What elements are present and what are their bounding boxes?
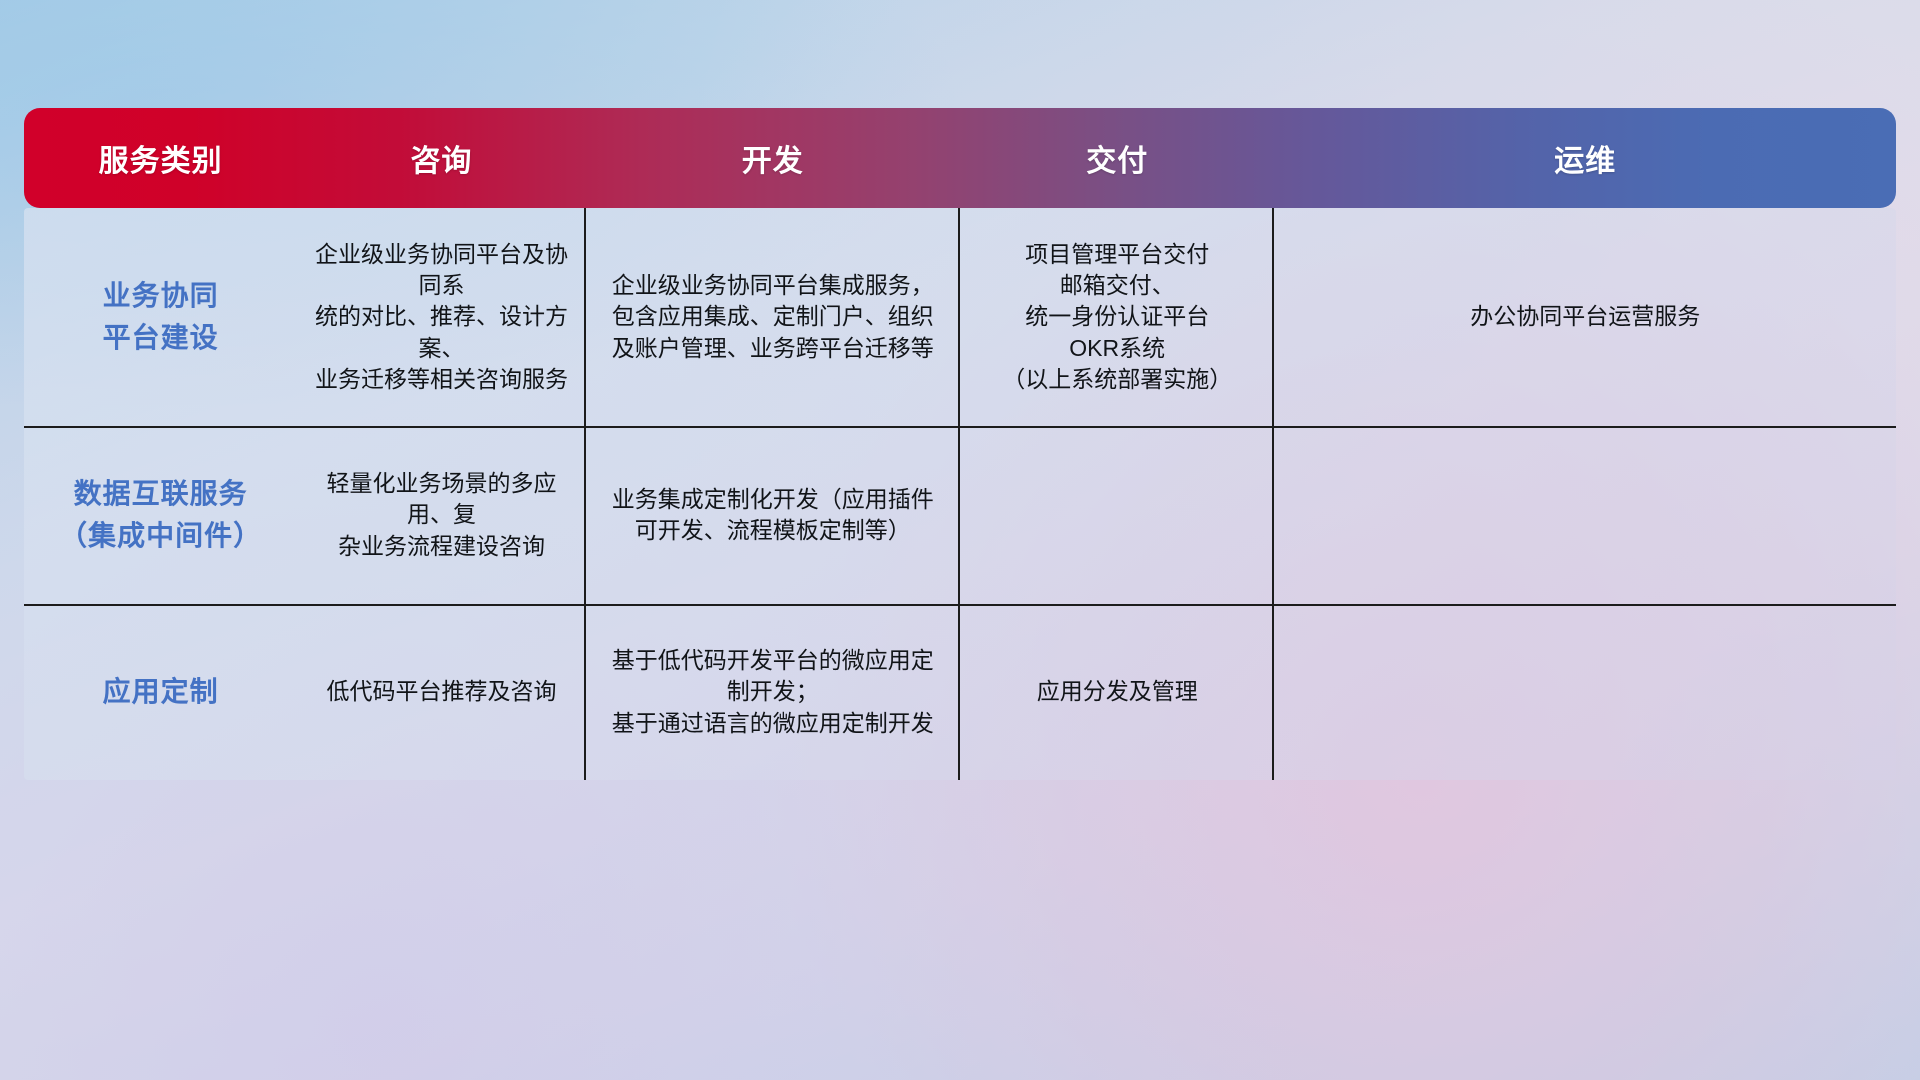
table-header-service-category: 服务类别 (24, 108, 297, 208)
table-header-delivery: 交付 (960, 108, 1274, 208)
header-label: 交付 (1086, 136, 1148, 180)
table-header-operations: 运维 (1274, 108, 1896, 208)
table-row: 应用定制 低代码平台推荐及咨询 基于低代码开发平台的微应用定 制开发； 基于通过… (24, 604, 1896, 780)
cell-consulting: 轻量化业务场景的多应用、复 杂业务流程建设咨询 (297, 426, 585, 604)
cell-development: 企业级业务协同平台集成服务， 包含应用集成、定制门户、组织 及账户管理、业务跨平… (586, 208, 960, 426)
cell-operations (1274, 426, 1896, 604)
header-label: 咨询 (410, 136, 472, 180)
table-header-consulting: 咨询 (297, 108, 585, 208)
table-row: 数据互联服务 （集成中间件） 轻量化业务场景的多应用、复 杂业务流程建设咨询 业… (24, 426, 1896, 604)
cell-delivery: 应用分发及管理 (960, 604, 1274, 780)
cell-delivery: 项目管理平台交付 邮箱交付、 统一身份认证平台 OKR系统 （以上系统部署实施） (960, 208, 1274, 426)
table-body: 业务协同 平台建设 企业级业务协同平台及协同系 统的对比、推荐、设计方案、 业务… (24, 208, 1896, 780)
cell-development: 业务集成定制化开发（应用插件 可开发、流程模板定制等） (586, 426, 960, 604)
table-header-development: 开发 (586, 108, 960, 208)
header-label: 开发 (742, 136, 804, 180)
cell-operations: 办公协同平台运营服务 (1274, 208, 1896, 426)
service-category-table: 服务类别 咨询 开发 交付 运维 业务协同 平台建设 企业级业务协同平台及协同系… (24, 108, 1896, 780)
cell-delivery (960, 426, 1274, 604)
header-label: 服务类别 (99, 136, 223, 180)
row-category-label: 应用定制 (24, 604, 297, 780)
cell-operations (1274, 604, 1896, 780)
header-label: 运维 (1554, 136, 1616, 180)
row-category-label: 数据互联服务 （集成中间件） (24, 426, 297, 604)
table-row: 业务协同 平台建设 企业级业务协同平台及协同系 统的对比、推荐、设计方案、 业务… (24, 208, 1896, 426)
row-category-label: 业务协同 平台建设 (24, 208, 297, 426)
table-header-row: 服务类别 咨询 开发 交付 运维 (24, 108, 1896, 208)
cell-consulting: 低代码平台推荐及咨询 (297, 604, 585, 780)
cell-consulting: 企业级业务协同平台及协同系 统的对比、推荐、设计方案、 业务迁移等相关咨询服务 (297, 208, 585, 426)
cell-development: 基于低代码开发平台的微应用定 制开发； 基于通过语言的微应用定制开发 (586, 604, 960, 780)
